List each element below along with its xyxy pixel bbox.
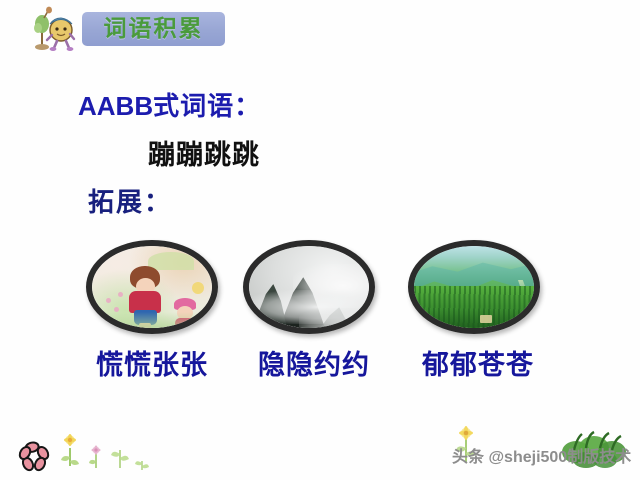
watermark-text: 头条 @sheji500制版技术: [452, 443, 631, 467]
picture-caption: 郁郁苍苍: [403, 343, 553, 382]
slide-canvas: 词语积累 AABB式词语： 蹦蹦跳跳 拓展：: [0, 0, 640, 480]
slide-header: 词语积累: [0, 0, 640, 62]
extend-section-label: 拓展：: [88, 182, 172, 219]
picture-card[interactable]: [408, 240, 540, 338]
aabb-rest-label: 式词语：: [153, 92, 261, 121]
aabb-pattern-heading: AABB式词语：: [78, 86, 261, 123]
picture-card-row: 慌慌张张 隐隐约约 郁郁苍苍: [0, 240, 640, 390]
green-forest-image: [414, 246, 534, 328]
misty-mountain-image: [249, 246, 369, 328]
aabb-latin-label: AABB: [78, 91, 153, 121]
picture-card[interactable]: [243, 240, 375, 338]
oval-frame: [243, 240, 375, 334]
children-illustration-image: [92, 246, 212, 328]
section-title-banner: 词语积累: [82, 12, 225, 46]
picture-card[interactable]: [86, 240, 218, 338]
section-title-label: 词语积累: [82, 12, 225, 46]
picture-caption: 隐隐约约: [239, 343, 389, 382]
picture-caption: 慌慌张张: [77, 343, 227, 382]
flower-decoration-icon: [18, 432, 158, 478]
example-word-label: 蹦蹦跳跳: [148, 133, 260, 172]
cartoon-gardener-icon: [22, 6, 82, 52]
oval-frame: [408, 240, 540, 334]
oval-frame: [86, 240, 218, 334]
